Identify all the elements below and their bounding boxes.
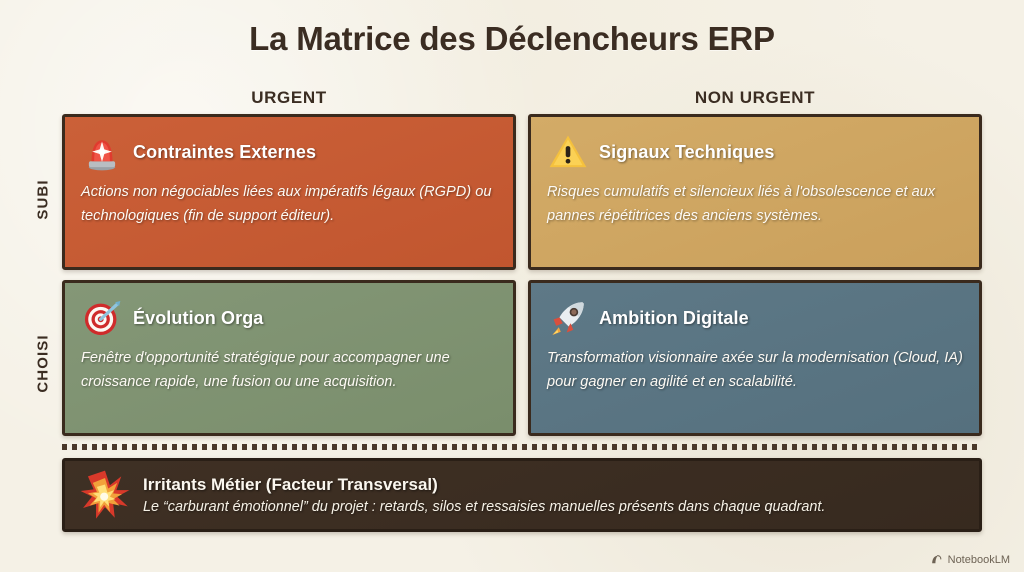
- quadrant-ambition-digitale[interactable]: Ambition Digitale Transformation visionn…: [528, 280, 982, 436]
- row-headers: SUBI CHOISI: [28, 115, 58, 435]
- explosion-icon: [79, 469, 131, 521]
- column-headers: URGENT NON URGENT: [62, 88, 982, 112]
- quadrant-description: Transformation visionnaire axée sur la m…: [547, 347, 963, 394]
- target-dart-icon: [81, 297, 123, 339]
- quadrant-header: Évolution Orga: [81, 295, 497, 341]
- row-header-subi: SUBI: [35, 143, 52, 257]
- quadrant-title: Signaux Techniques: [599, 142, 775, 163]
- quadrant-evolution-orga[interactable]: Évolution Orga Fenêtre d'opportunité str…: [62, 280, 516, 436]
- footer-label: NotebookLM: [948, 554, 1010, 566]
- rocket-icon: [547, 297, 589, 339]
- quadrant-title: Ambition Digitale: [599, 308, 749, 329]
- banner-title: Irritants Métier (Facteur Transversal): [143, 474, 825, 495]
- quadrant-header: Ambition Digitale: [547, 295, 963, 341]
- quadrant-description: Fenêtre d'opportunité stratégique pour a…: [81, 347, 497, 394]
- transversal-banner[interactable]: Irritants Métier (Facteur Transversal) L…: [62, 458, 982, 532]
- page-title: La Matrice des Déclencheurs ERP: [0, 20, 1024, 58]
- quadrant-signaux-techniques[interactable]: Signaux Techniques Risques cumulatifs et…: [528, 114, 982, 270]
- quadrant-description: Actions non négociables liées aux impéra…: [81, 181, 497, 228]
- column-header-non-urgent: NON URGENT: [528, 88, 982, 112]
- notebooklm-logo-icon: [930, 553, 943, 566]
- quadrant-title: Contraintes Externes: [133, 142, 316, 163]
- quadrant-description: Risques cumulatifs et silencieux liés à …: [547, 181, 963, 228]
- quadrant-contraintes-externes[interactable]: Contraintes Externes Actions non négocia…: [62, 114, 516, 270]
- quadrant-header: Signaux Techniques: [547, 129, 963, 175]
- banner-text-block: Irritants Métier (Facteur Transversal) L…: [143, 474, 825, 517]
- quadrant-title: Évolution Orga: [133, 308, 263, 329]
- warning-triangle-icon: [547, 131, 589, 173]
- quadrant-header: Contraintes Externes: [81, 129, 497, 175]
- row-header-choisi: CHOISI: [35, 307, 52, 421]
- rotating-light-icon: [81, 131, 123, 173]
- dotted-divider: [62, 444, 982, 450]
- footer-attribution: NotebookLM: [930, 553, 1010, 566]
- matrix-page: La Matrice des Déclencheurs ERP URGENT N…: [0, 0, 1024, 572]
- column-header-urgent: URGENT: [62, 88, 516, 112]
- banner-description: Le “carburant émotionnel” du projet : re…: [143, 498, 825, 517]
- matrix-grid: Contraintes Externes Actions non négocia…: [62, 114, 982, 436]
